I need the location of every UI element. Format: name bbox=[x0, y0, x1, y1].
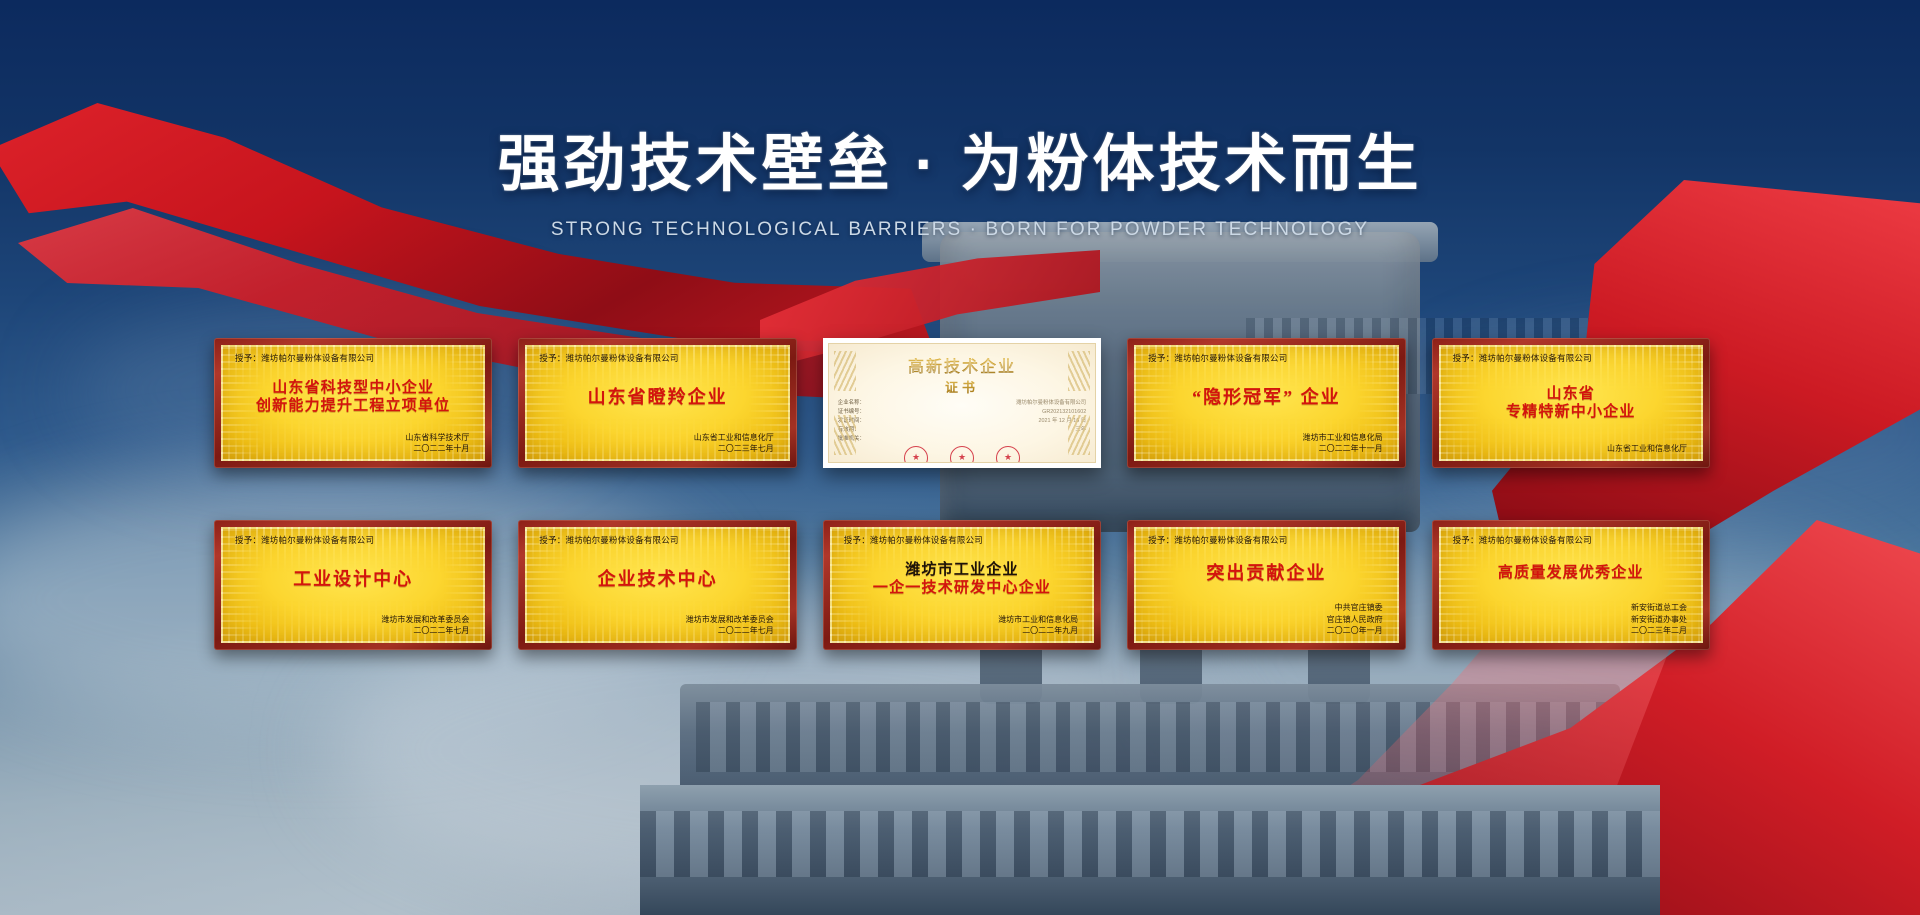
award-plaque-enterprise-technology-center[interactable]: 授予：潍坊帕尔曼粉体设备有限公司 企业技术中心 潍坊市发展和改革委员会二〇二二年… bbox=[518, 520, 796, 650]
award-certificate-high-tech-enterprise-certificate[interactable]: 高新技术企业 证书 企业名称： 潍坊帕尔曼粉体设备有限公司 证书编号： GR20… bbox=[823, 338, 1101, 468]
plaque-award-to: 授予：潍坊帕尔曼粉体设备有限公司 bbox=[840, 534, 1084, 546]
stone-plinth bbox=[640, 785, 1660, 915]
certificate-title: 高新技术企业 bbox=[908, 353, 1016, 377]
page-subtitle: STRONG TECHNOLOGICAL BARRIERS · BORN FOR… bbox=[0, 219, 1920, 241]
plaque-issuer: 潍坊市发展和改革委员会二〇二二年七月 bbox=[231, 614, 475, 637]
official-seal-icon bbox=[904, 446, 928, 463]
award-plaque-outstanding-contribution-enterprise[interactable]: 授予：潍坊帕尔曼粉体设备有限公司 突出贡献企业 中共官庄镇委官庄镇人民政府二〇二… bbox=[1127, 520, 1405, 650]
award-plaque-shandong-specialized-sme[interactable]: 授予：潍坊帕尔曼粉体设备有限公司 山东省专精特新中小企业 山东省工业和信息化厅 bbox=[1432, 338, 1710, 468]
wheat-ornament-icon bbox=[834, 351, 856, 391]
plaque-issuer-line: 新安街道总工会 bbox=[1449, 602, 1687, 614]
certificate-seals bbox=[904, 446, 1020, 463]
plaque-issuer-line: 二〇二三年二月 bbox=[1449, 625, 1687, 637]
plaque-issuer-line: 新安街道办事处 bbox=[1449, 614, 1687, 626]
plaque-inner: 授予：潍坊帕尔曼粉体设备有限公司 突出贡献企业 中共官庄镇委官庄镇人民政府二〇二… bbox=[1134, 527, 1398, 643]
plaque-titles: 高质量发展优秀企业 bbox=[1449, 546, 1693, 602]
plaque-issuer: 新安街道总工会新安街道办事处二〇二三年二月 bbox=[1449, 602, 1693, 637]
plaque-inner: 授予：潍坊帕尔曼粉体设备有限公司 工业设计中心 潍坊市发展和改革委员会二〇二二年… bbox=[221, 527, 485, 643]
certificate-inner: 高新技术企业 证书 企业名称： 潍坊帕尔曼粉体设备有限公司 证书编号： GR20… bbox=[828, 343, 1096, 463]
plaque-inner: 授予：潍坊帕尔曼粉体设备有限公司 企业技术中心 潍坊市发展和改革委员会二〇二二年… bbox=[525, 527, 789, 643]
plaque-award-to: 授予：潍坊帕尔曼粉体设备有限公司 bbox=[535, 352, 779, 364]
plaque-inner: 授予：潍坊帕尔曼粉体设备有限公司 山东省科技型中小企业创新能力提升工程立项单位 … bbox=[221, 345, 485, 461]
plaque-issuer-line: 官庄镇人民政府 bbox=[1144, 614, 1382, 626]
plaque-issuer: 山东省工业和信息化厅 bbox=[1449, 443, 1693, 455]
plaque-award-to: 授予：潍坊帕尔曼粉体设备有限公司 bbox=[1144, 352, 1388, 364]
plaque-titles: 工业设计中心 bbox=[231, 546, 475, 614]
plaque-issuer: 山东省科学技术厅二〇二二年十月 bbox=[231, 432, 475, 455]
plaque-issuer-line: 二〇二二年九月 bbox=[840, 625, 1078, 637]
plaque-titles: 潍坊市工业企业一企一技术研发中心企业 bbox=[840, 546, 1084, 614]
certificate-field: 批准机关： bbox=[838, 435, 1086, 444]
plaque-issuer: 潍坊市工业和信息化局二〇二二年十一月 bbox=[1144, 432, 1388, 455]
page-title: 强劲技术壁垒 · 为粉体技术而生 bbox=[0, 128, 1920, 201]
official-seal-icon bbox=[996, 446, 1020, 463]
plaque-inner: 授予：潍坊帕尔曼粉体设备有限公司 山东省专精特新中小企业 山东省工业和信息化厅 bbox=[1439, 345, 1703, 461]
plaque-issuer-line: 山东省科学技术厅 bbox=[231, 432, 469, 444]
plaque-issuer-line: 山东省工业和信息化厅 bbox=[1449, 443, 1687, 455]
plaque-issuer-line: 潍坊市工业和信息化局 bbox=[1144, 432, 1382, 444]
plaque-title: 专精特新中小企业 bbox=[1506, 404, 1636, 422]
plaque-title: 山东省科技型中小企业 bbox=[272, 380, 434, 398]
plaque-inner: 授予：潍坊帕尔曼粉体设备有限公司 “隐形冠军” 企业 潍坊市工业和信息化局二〇二… bbox=[1134, 345, 1398, 461]
certificate-fields: 企业名称： 潍坊帕尔曼粉体设备有限公司 证书编号： GR202132101602… bbox=[829, 396, 1095, 444]
plaque-title: “隐形冠军” 企业 bbox=[1192, 387, 1341, 408]
plaque-title: 企业技术中心 bbox=[598, 569, 718, 590]
wheat-ornament-icon bbox=[1068, 415, 1090, 455]
plaque-title: 突出贡献企业 bbox=[1206, 563, 1326, 584]
plaque-titles: 突出贡献企业 bbox=[1144, 546, 1388, 602]
certificate-field: 有效期： 三年 bbox=[838, 426, 1086, 435]
plaque-titles: 企业技术中心 bbox=[535, 546, 779, 614]
official-seal-icon bbox=[950, 446, 974, 463]
plaque-issuer-line: 潍坊市工业和信息化局 bbox=[840, 614, 1078, 626]
honors-banner: 强劲技术壁垒 · 为粉体技术而生 STRONG TECHNOLOGICAL BA… bbox=[0, 0, 1920, 915]
plaque-issuer-line: 二〇二二年七月 bbox=[535, 625, 773, 637]
award-plaque-industrial-design-center[interactable]: 授予：潍坊帕尔曼粉体设备有限公司 工业设计中心 潍坊市发展和改革委员会二〇二二年… bbox=[214, 520, 492, 650]
plaque-issuer-line: 二〇二三年七月 bbox=[535, 443, 773, 455]
plaque-issuer-line: 潍坊市发展和改革委员会 bbox=[231, 614, 469, 626]
awards-grid: 授予：潍坊帕尔曼粉体设备有限公司 山东省科技型中小企业创新能力提升工程立项单位 … bbox=[214, 338, 1710, 650]
plaque-issuer-line: 山东省工业和信息化厅 bbox=[535, 432, 773, 444]
plaque-titles: 山东省科技型中小企业创新能力提升工程立项单位 bbox=[231, 364, 475, 432]
plaque-title: 潍坊市工业企业 bbox=[905, 562, 1018, 580]
plaque-award-to: 授予：潍坊帕尔曼粉体设备有限公司 bbox=[231, 352, 475, 364]
plaque-issuer: 潍坊市工业和信息化局二〇二二年九月 bbox=[840, 614, 1084, 637]
plaque-issuer-line: 二〇二〇年一月 bbox=[1144, 625, 1382, 637]
plaque-inner: 授予：潍坊帕尔曼粉体设备有限公司 高质量发展优秀企业 新安街道总工会新安街道办事… bbox=[1439, 527, 1703, 643]
plaque-inner: 授予：潍坊帕尔曼粉体设备有限公司 山东省瞪羚企业 山东省工业和信息化厅二〇二三年… bbox=[525, 345, 789, 461]
plaque-issuer-line: 二〇二二年七月 bbox=[231, 625, 469, 637]
certificate-field: 发证时间： 2021 年 12 月 16 日 bbox=[838, 417, 1086, 426]
certificate-field: 证书编号： GR202132101602 bbox=[838, 408, 1086, 417]
plaque-award-to: 授予：潍坊帕尔曼粉体设备有限公司 bbox=[1449, 534, 1693, 546]
plaque-titles: “隐形冠军” 企业 bbox=[1144, 364, 1388, 432]
award-plaque-shandong-gazelle-enterprise[interactable]: 授予：潍坊帕尔曼粉体设备有限公司 山东省瞪羚企业 山东省工业和信息化厅二〇二三年… bbox=[518, 338, 796, 468]
award-plaque-weifang-one-enterprise-one-tech-rd-center[interactable]: 授予：潍坊帕尔曼粉体设备有限公司 潍坊市工业企业一企一技术研发中心企业 潍坊市工… bbox=[823, 520, 1101, 650]
plaque-issuer: 山东省工业和信息化厅二〇二三年七月 bbox=[535, 432, 779, 455]
plaque-title: 山东省 bbox=[1546, 386, 1595, 404]
plaque-title: 一企一技术研发中心企业 bbox=[873, 580, 1051, 598]
plaque-award-to: 授予：潍坊帕尔曼粉体设备有限公司 bbox=[1144, 534, 1388, 546]
plaque-issuer-line: 中共官庄镇委 bbox=[1144, 602, 1382, 614]
plaque-award-to: 授予：潍坊帕尔曼粉体设备有限公司 bbox=[1449, 352, 1693, 364]
certificate-field-key: 企业名称： bbox=[838, 399, 865, 408]
wheat-ornament-icon bbox=[1068, 351, 1090, 391]
award-plaque-high-quality-development-excellent-enterprise[interactable]: 授予：潍坊帕尔曼粉体设备有限公司 高质量发展优秀企业 新安街道总工会新安街道办事… bbox=[1432, 520, 1710, 650]
award-plaque-hidden-champion-enterprise[interactable]: 授予：潍坊帕尔曼粉体设备有限公司 “隐形冠军” 企业 潍坊市工业和信息化局二〇二… bbox=[1127, 338, 1405, 468]
certificate-field-value: 潍坊帕尔曼粉体设备有限公司 bbox=[1016, 399, 1086, 408]
wheat-ornament-icon bbox=[834, 415, 856, 455]
plaque-issuer: 中共官庄镇委官庄镇人民政府二〇二〇年一月 bbox=[1144, 602, 1388, 637]
plaque-award-to: 授予：潍坊帕尔曼粉体设备有限公司 bbox=[535, 534, 779, 546]
plaque-titles: 山东省专精特新中小企业 bbox=[1449, 364, 1693, 443]
plaque-title: 工业设计中心 bbox=[293, 569, 413, 590]
plaque-titles: 山东省瞪羚企业 bbox=[535, 364, 779, 432]
plaque-title: 高质量发展优秀企业 bbox=[1498, 565, 1644, 583]
plaque-title: 山东省瞪羚企业 bbox=[588, 387, 728, 408]
plaque-issuer: 潍坊市发展和改革委员会二〇二二年七月 bbox=[535, 614, 779, 637]
hero-heading-block: 强劲技术壁垒 · 为粉体技术而生 STRONG TECHNOLOGICAL BA… bbox=[0, 128, 1920, 241]
plinth-relief-band bbox=[640, 811, 1660, 877]
certificate-field: 企业名称： 潍坊帕尔曼粉体设备有限公司 bbox=[838, 399, 1086, 408]
award-plaque-shandong-sci-tech-sme[interactable]: 授予：潍坊帕尔曼粉体设备有限公司 山东省科技型中小企业创新能力提升工程立项单位 … bbox=[214, 338, 492, 468]
plaque-inner: 授予：潍坊帕尔曼粉体设备有限公司 潍坊市工业企业一企一技术研发中心企业 潍坊市工… bbox=[830, 527, 1094, 643]
plaque-issuer-line: 二〇二二年十月 bbox=[231, 443, 469, 455]
certificate-subtitle: 证书 bbox=[945, 377, 979, 396]
plaque-award-to: 授予：潍坊帕尔曼粉体设备有限公司 bbox=[231, 534, 475, 546]
plaque-issuer-line: 潍坊市发展和改革委员会 bbox=[535, 614, 773, 626]
plaque-issuer-line: 二〇二二年十一月 bbox=[1144, 443, 1382, 455]
ding-base-pattern bbox=[696, 702, 1606, 772]
plaque-title: 创新能力提升工程立项单位 bbox=[256, 398, 450, 416]
